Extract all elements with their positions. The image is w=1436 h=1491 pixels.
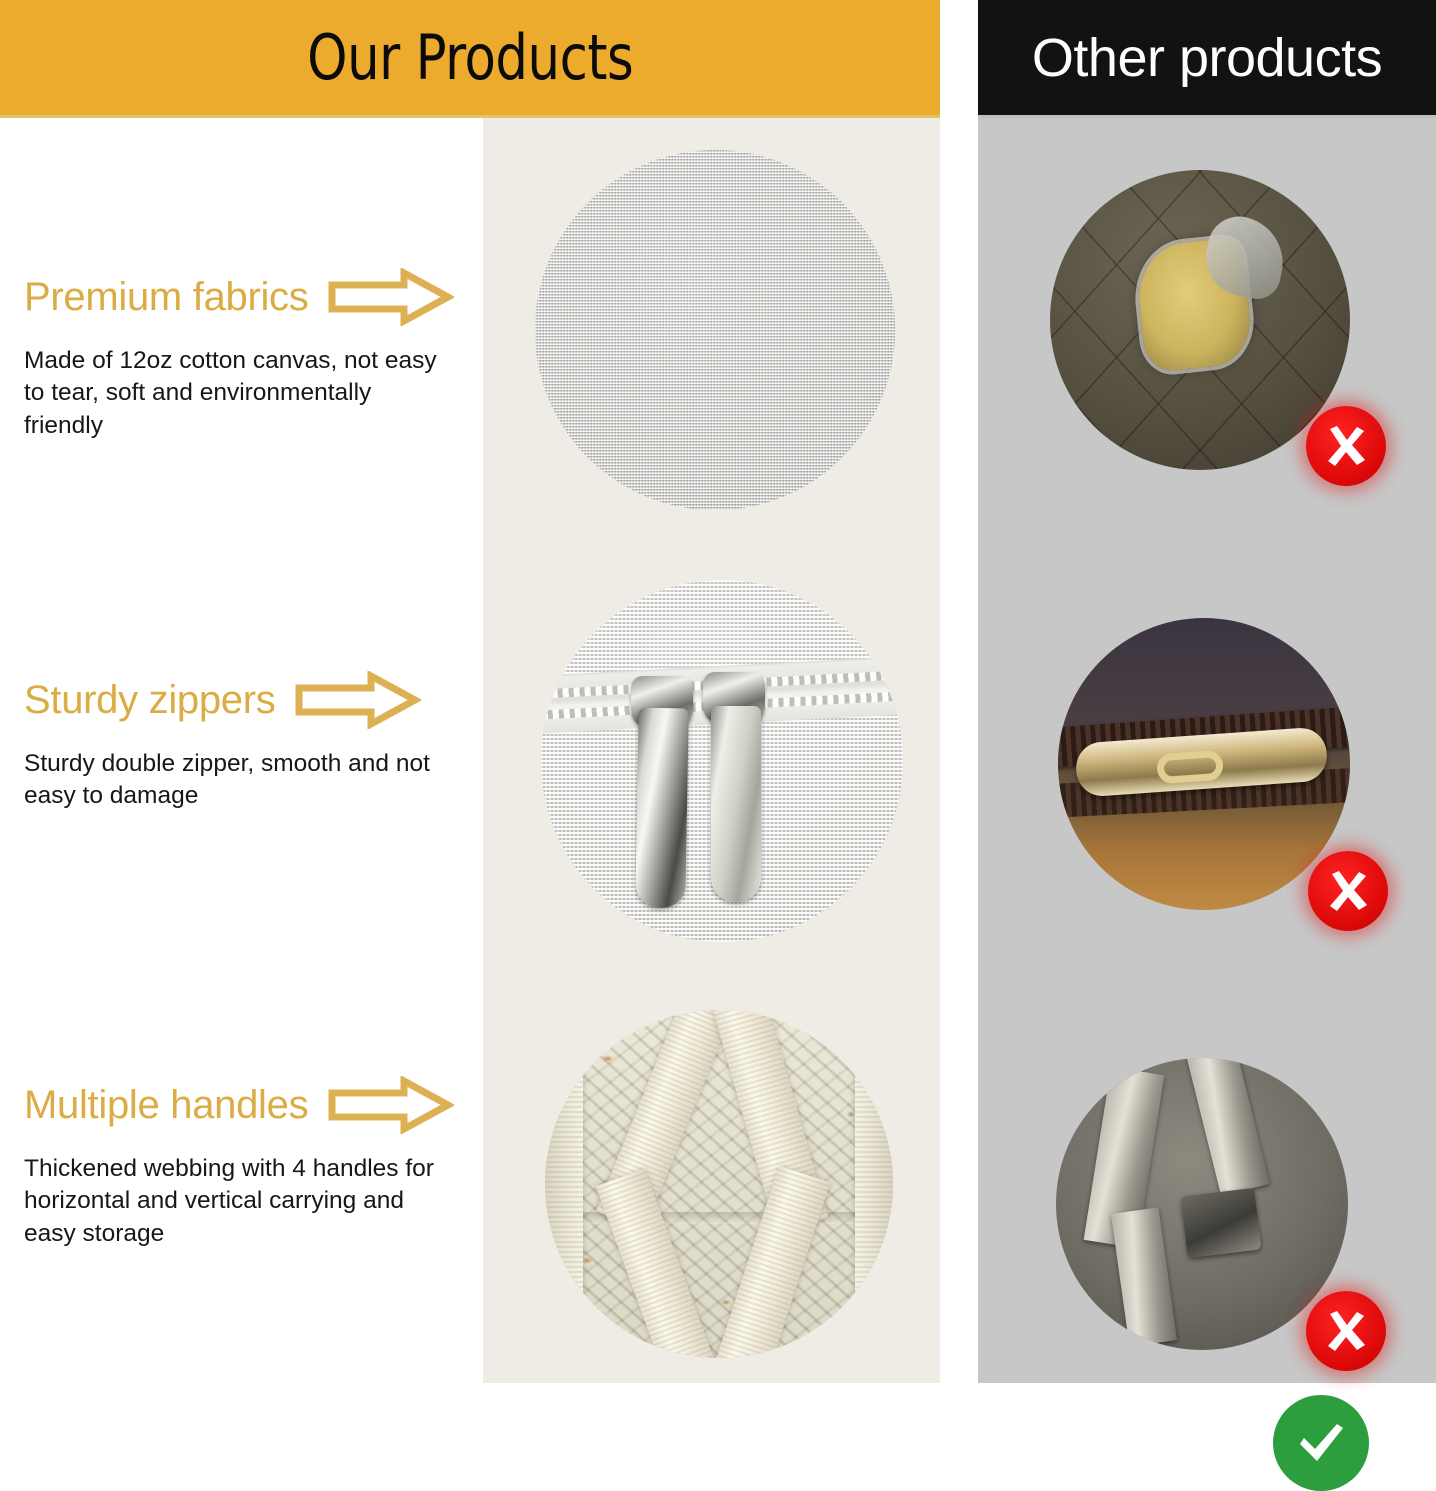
feature-title-premium-fabrics: Premium fabrics bbox=[24, 275, 308, 320]
canvas-weave-texture bbox=[535, 150, 895, 510]
zipper-pull-ring bbox=[1156, 750, 1224, 785]
our-products-header: Our Products bbox=[0, 0, 940, 118]
zipper-pull-right bbox=[711, 706, 761, 902]
our-products-header-label: Our Products bbox=[307, 21, 633, 94]
other-products-header-label: Other products bbox=[1032, 27, 1382, 89]
feature-description-premium-fabrics: Made of 12oz cotton canvas, not easy to … bbox=[24, 345, 449, 442]
arrow-right-outline-icon bbox=[326, 268, 454, 326]
feature-heading-row: Premium fabrics bbox=[24, 270, 484, 324]
cross-mark-icon bbox=[1308, 851, 1388, 931]
photo-our-double-zipper bbox=[541, 580, 903, 942]
our-products-column: Our Products Premium fabrics Made of 1 bbox=[0, 0, 940, 1383]
feature-text-strip: Premium fabrics Made of 12oz cotton canv… bbox=[0, 118, 483, 1383]
feature-sturdy-zippers: Sturdy zippers Sturdy double zipper, smo… bbox=[24, 673, 484, 813]
feature-title-multiple-handles: Multiple handles bbox=[24, 1083, 308, 1128]
panel-divider bbox=[940, 0, 978, 1383]
webbing-strap-edge bbox=[855, 1010, 893, 1358]
other-products-photo-panel bbox=[978, 118, 1436, 1383]
other-products-column: Other products bbox=[978, 0, 1436, 1383]
torn-handle-texture bbox=[1056, 1058, 1348, 1350]
check-mark-icon bbox=[1273, 1395, 1369, 1491]
feature-description-sturdy-zippers: Sturdy double zipper, smooth and not eas… bbox=[24, 748, 449, 813]
product-comparison-board: Our Products Premium fabrics Made of 1 bbox=[0, 0, 1436, 1383]
feature-multiple-handles: Multiple handles Thickened webbing with … bbox=[24, 1078, 484, 1250]
photo-our-handles-webbing bbox=[545, 1010, 893, 1358]
photo-our-canvas-fabric bbox=[535, 150, 895, 510]
webbing-strap-edge bbox=[545, 1010, 583, 1358]
other-products-header: Other products bbox=[978, 0, 1436, 118]
photo-other-torn-fabric bbox=[1050, 170, 1350, 470]
cross-mark-icon bbox=[1306, 406, 1386, 486]
cross-mark-icon bbox=[1306, 1291, 1386, 1371]
zipper-pull-left bbox=[635, 708, 688, 909]
zipper-photo-texture bbox=[541, 580, 903, 942]
feature-title-sturdy-zippers: Sturdy zippers bbox=[24, 678, 275, 723]
photo-other-broken-zipper bbox=[1058, 618, 1350, 910]
feature-heading-row: Sturdy zippers bbox=[24, 673, 484, 727]
floral-fabric-texture bbox=[545, 1010, 893, 1358]
torn-fabric-texture bbox=[1050, 170, 1350, 470]
broken-zipper-texture bbox=[1058, 618, 1350, 910]
webbing-strap bbox=[596, 1169, 730, 1358]
our-products-body: Premium fabrics Made of 12oz cotton canv… bbox=[0, 118, 940, 1383]
handle-webbing bbox=[1184, 1058, 1269, 1196]
feature-description-multiple-handles: Thickened webbing with 4 handles for hor… bbox=[24, 1153, 449, 1250]
handle-webbing bbox=[1111, 1207, 1177, 1347]
photo-other-torn-handle bbox=[1056, 1058, 1348, 1350]
our-products-photo-panel bbox=[483, 118, 940, 1383]
fabric-seam bbox=[545, 1212, 893, 1224]
handle-buckle bbox=[1181, 1188, 1262, 1259]
feature-heading-row: Multiple handles bbox=[24, 1078, 484, 1132]
feature-premium-fabrics: Premium fabrics Made of 12oz cotton canv… bbox=[24, 270, 484, 442]
arrow-right-outline-icon bbox=[326, 1076, 454, 1134]
arrow-right-outline-icon bbox=[293, 671, 421, 729]
